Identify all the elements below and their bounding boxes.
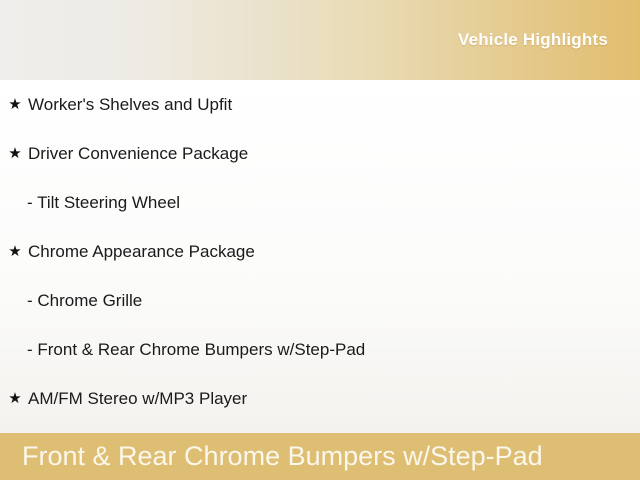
star-bullet-icon: ★	[8, 129, 22, 178]
caption-bar: Front & Rear Chrome Bumpers w/Step-Pad	[0, 433, 640, 480]
list-item: ★ AM/FM Stereo w/MP3 Player	[0, 374, 640, 423]
list-item: - Tilt Steering Wheel	[0, 178, 640, 227]
list-item: ★ Worker's Shelves and Upfit	[0, 80, 640, 129]
feature-sublabel: - Front & Rear Chrome Bumpers w/Step-Pad	[27, 325, 365, 374]
list-item: - Front & Rear Chrome Bumpers w/Step-Pad	[0, 325, 640, 374]
highlights-body: ★ Worker's Shelves and Upfit ★ Driver Co…	[0, 80, 640, 433]
feature-sublabel: - Chrome Grille	[27, 276, 142, 325]
page-title: Vehicle Highlights	[458, 30, 608, 50]
list-item: - Chrome Grille	[0, 276, 640, 325]
feature-label: Worker's Shelves and Upfit	[28, 80, 232, 129]
feature-label: Chrome Appearance Package	[28, 227, 255, 276]
vehicle-highlights-slide: Vehicle Highlights ★ Worker's Shelves an…	[0, 0, 640, 480]
feature-label: AM/FM Stereo w/MP3 Player	[28, 374, 247, 423]
header-banner: Vehicle Highlights	[0, 0, 640, 80]
feature-label: Driver Convenience Package	[28, 129, 248, 178]
list-item: ★ Driver Convenience Package	[0, 129, 640, 178]
star-bullet-icon: ★	[8, 227, 22, 276]
caption-text: Front & Rear Chrome Bumpers w/Step-Pad	[22, 433, 543, 480]
star-bullet-icon: ★	[8, 80, 22, 129]
list-item: ★ Chrome Appearance Package	[0, 227, 640, 276]
feature-sublabel: - Tilt Steering Wheel	[27, 178, 180, 227]
star-bullet-icon: ★	[8, 374, 22, 423]
feature-list: ★ Worker's Shelves and Upfit ★ Driver Co…	[0, 80, 640, 423]
